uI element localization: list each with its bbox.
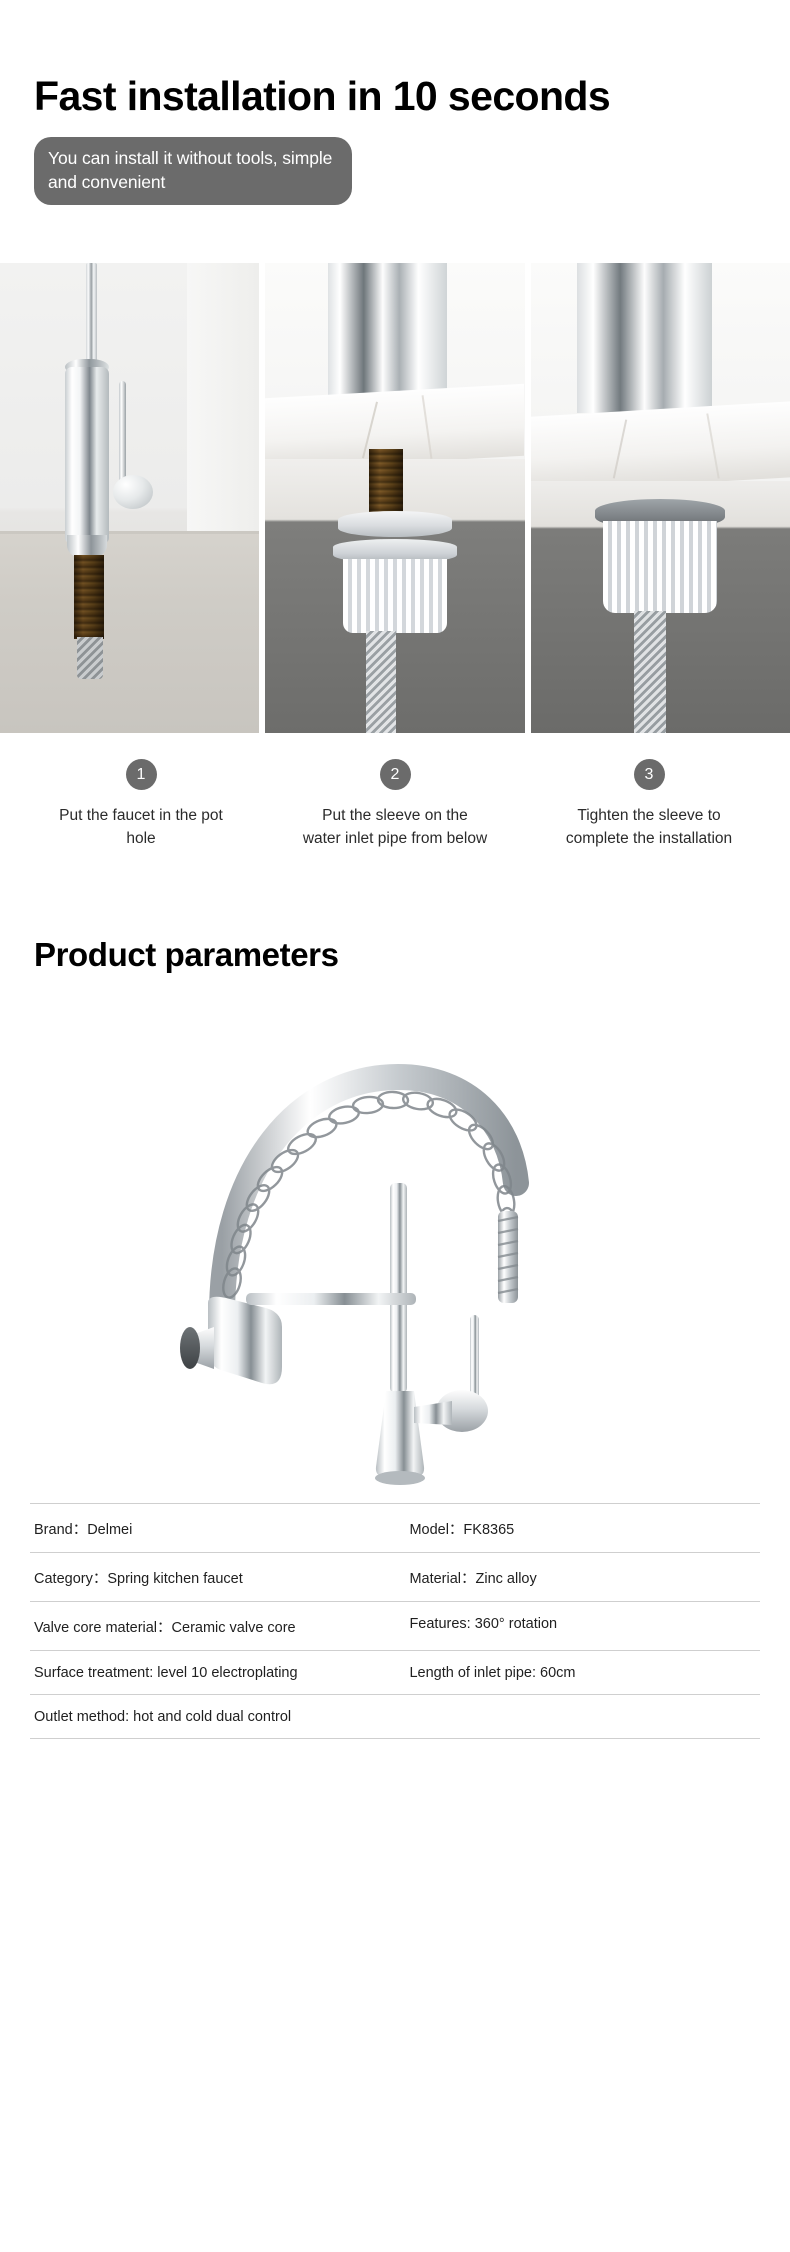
countertop-edge xyxy=(0,531,259,534)
step-item-3: 3 Tighten the sleeve to complete the ins… xyxy=(522,759,776,850)
page-title: Fast installation in 10 seconds xyxy=(34,0,790,117)
spec-model: Model：FK8365 xyxy=(409,1518,756,1539)
plastic-sleeve-body xyxy=(603,521,717,613)
step-number-badge: 1 xyxy=(126,759,157,790)
table-row: Valve core material：Ceramic valve core F… xyxy=(30,1602,760,1651)
faucet-handle-lever xyxy=(119,381,126,487)
table-row: Surface treatment: level 10 electroplati… xyxy=(30,1651,760,1695)
product-parameters-title: Product parameters xyxy=(0,850,790,971)
table-row: Brand：Delmei Model：FK8365 xyxy=(30,1504,760,1553)
step-item-2: 2 Put the sleeve on the water inlet pipe… xyxy=(268,759,522,850)
step-caption: Put the faucet in the pot hole xyxy=(49,805,234,850)
braided-hose xyxy=(366,631,396,733)
spec-outlet-method: Outlet method: hot and cold dual control xyxy=(34,1709,756,1725)
spring-coils xyxy=(220,1091,517,1300)
connecting-arm xyxy=(246,1293,416,1305)
brass-threaded-shank xyxy=(74,555,104,639)
step-number-badge: 3 xyxy=(634,759,665,790)
faucet-riser xyxy=(390,1183,407,1393)
step-item-1: 1 Put the faucet in the pot hole xyxy=(14,759,268,850)
faucet-body xyxy=(65,367,109,543)
sleeve-upper-ring xyxy=(338,511,452,537)
faucet-base-neck xyxy=(67,535,107,557)
step-number-badge: 2 xyxy=(380,759,411,790)
install-photo-step-2[interactable] xyxy=(265,263,524,733)
spring-faucet-illustration xyxy=(0,1015,790,1485)
table-row: Category：Spring kitchen faucet Material：… xyxy=(30,1553,760,1602)
spec-material: Material：Zinc alloy xyxy=(409,1567,756,1588)
faucet-base-plate xyxy=(375,1471,425,1485)
header-block: Fast installation in 10 seconds You can … xyxy=(0,0,790,205)
braided-hose xyxy=(634,611,666,733)
installation-steps: 1 Put the faucet in the pot hole 2 Put t… xyxy=(0,759,790,850)
installation-photo-strip xyxy=(0,263,790,733)
spec-features: Features: 360° rotation xyxy=(409,1616,756,1637)
spec-inlet-pipe-length: Length of inlet pipe: 60cm xyxy=(409,1665,756,1681)
back-panel xyxy=(187,263,260,545)
plastic-sleeve-body xyxy=(343,559,447,633)
step-caption: Tighten the sleeve to complete the insta… xyxy=(557,805,742,850)
faucet-handle-knob xyxy=(113,475,153,509)
subtitle-badge: You can install it without tools, simple… xyxy=(34,137,352,205)
spec-brand: Brand：Delmei xyxy=(34,1518,409,1539)
handle-collar xyxy=(414,1401,452,1425)
spec-valve-core-material: Valve core material：Ceramic valve core xyxy=(34,1616,409,1637)
spec-surface-treatment: Surface treatment: level 10 electroplati… xyxy=(34,1665,409,1681)
specification-table: Brand：Delmei Model：FK8365 Category：Sprin… xyxy=(30,1503,760,1739)
braided-hose xyxy=(77,637,103,679)
countertop-surface xyxy=(0,531,259,733)
spec-category: Category：Spring kitchen faucet xyxy=(34,1567,409,1588)
table-row: Outlet method: hot and cold dual control xyxy=(30,1695,760,1739)
product-hero-image[interactable] xyxy=(0,1015,790,1485)
spray-head xyxy=(208,1297,282,1385)
install-photo-step-1[interactable] xyxy=(0,263,259,733)
spray-nozzle-face xyxy=(180,1327,200,1369)
install-photo-step-3[interactable] xyxy=(531,263,790,733)
chrome-column xyxy=(577,263,712,413)
faucet-lower-body xyxy=(376,1391,424,1477)
marble-countertop xyxy=(531,402,790,493)
step-caption: Put the sleeve on the water inlet pipe f… xyxy=(303,805,488,850)
